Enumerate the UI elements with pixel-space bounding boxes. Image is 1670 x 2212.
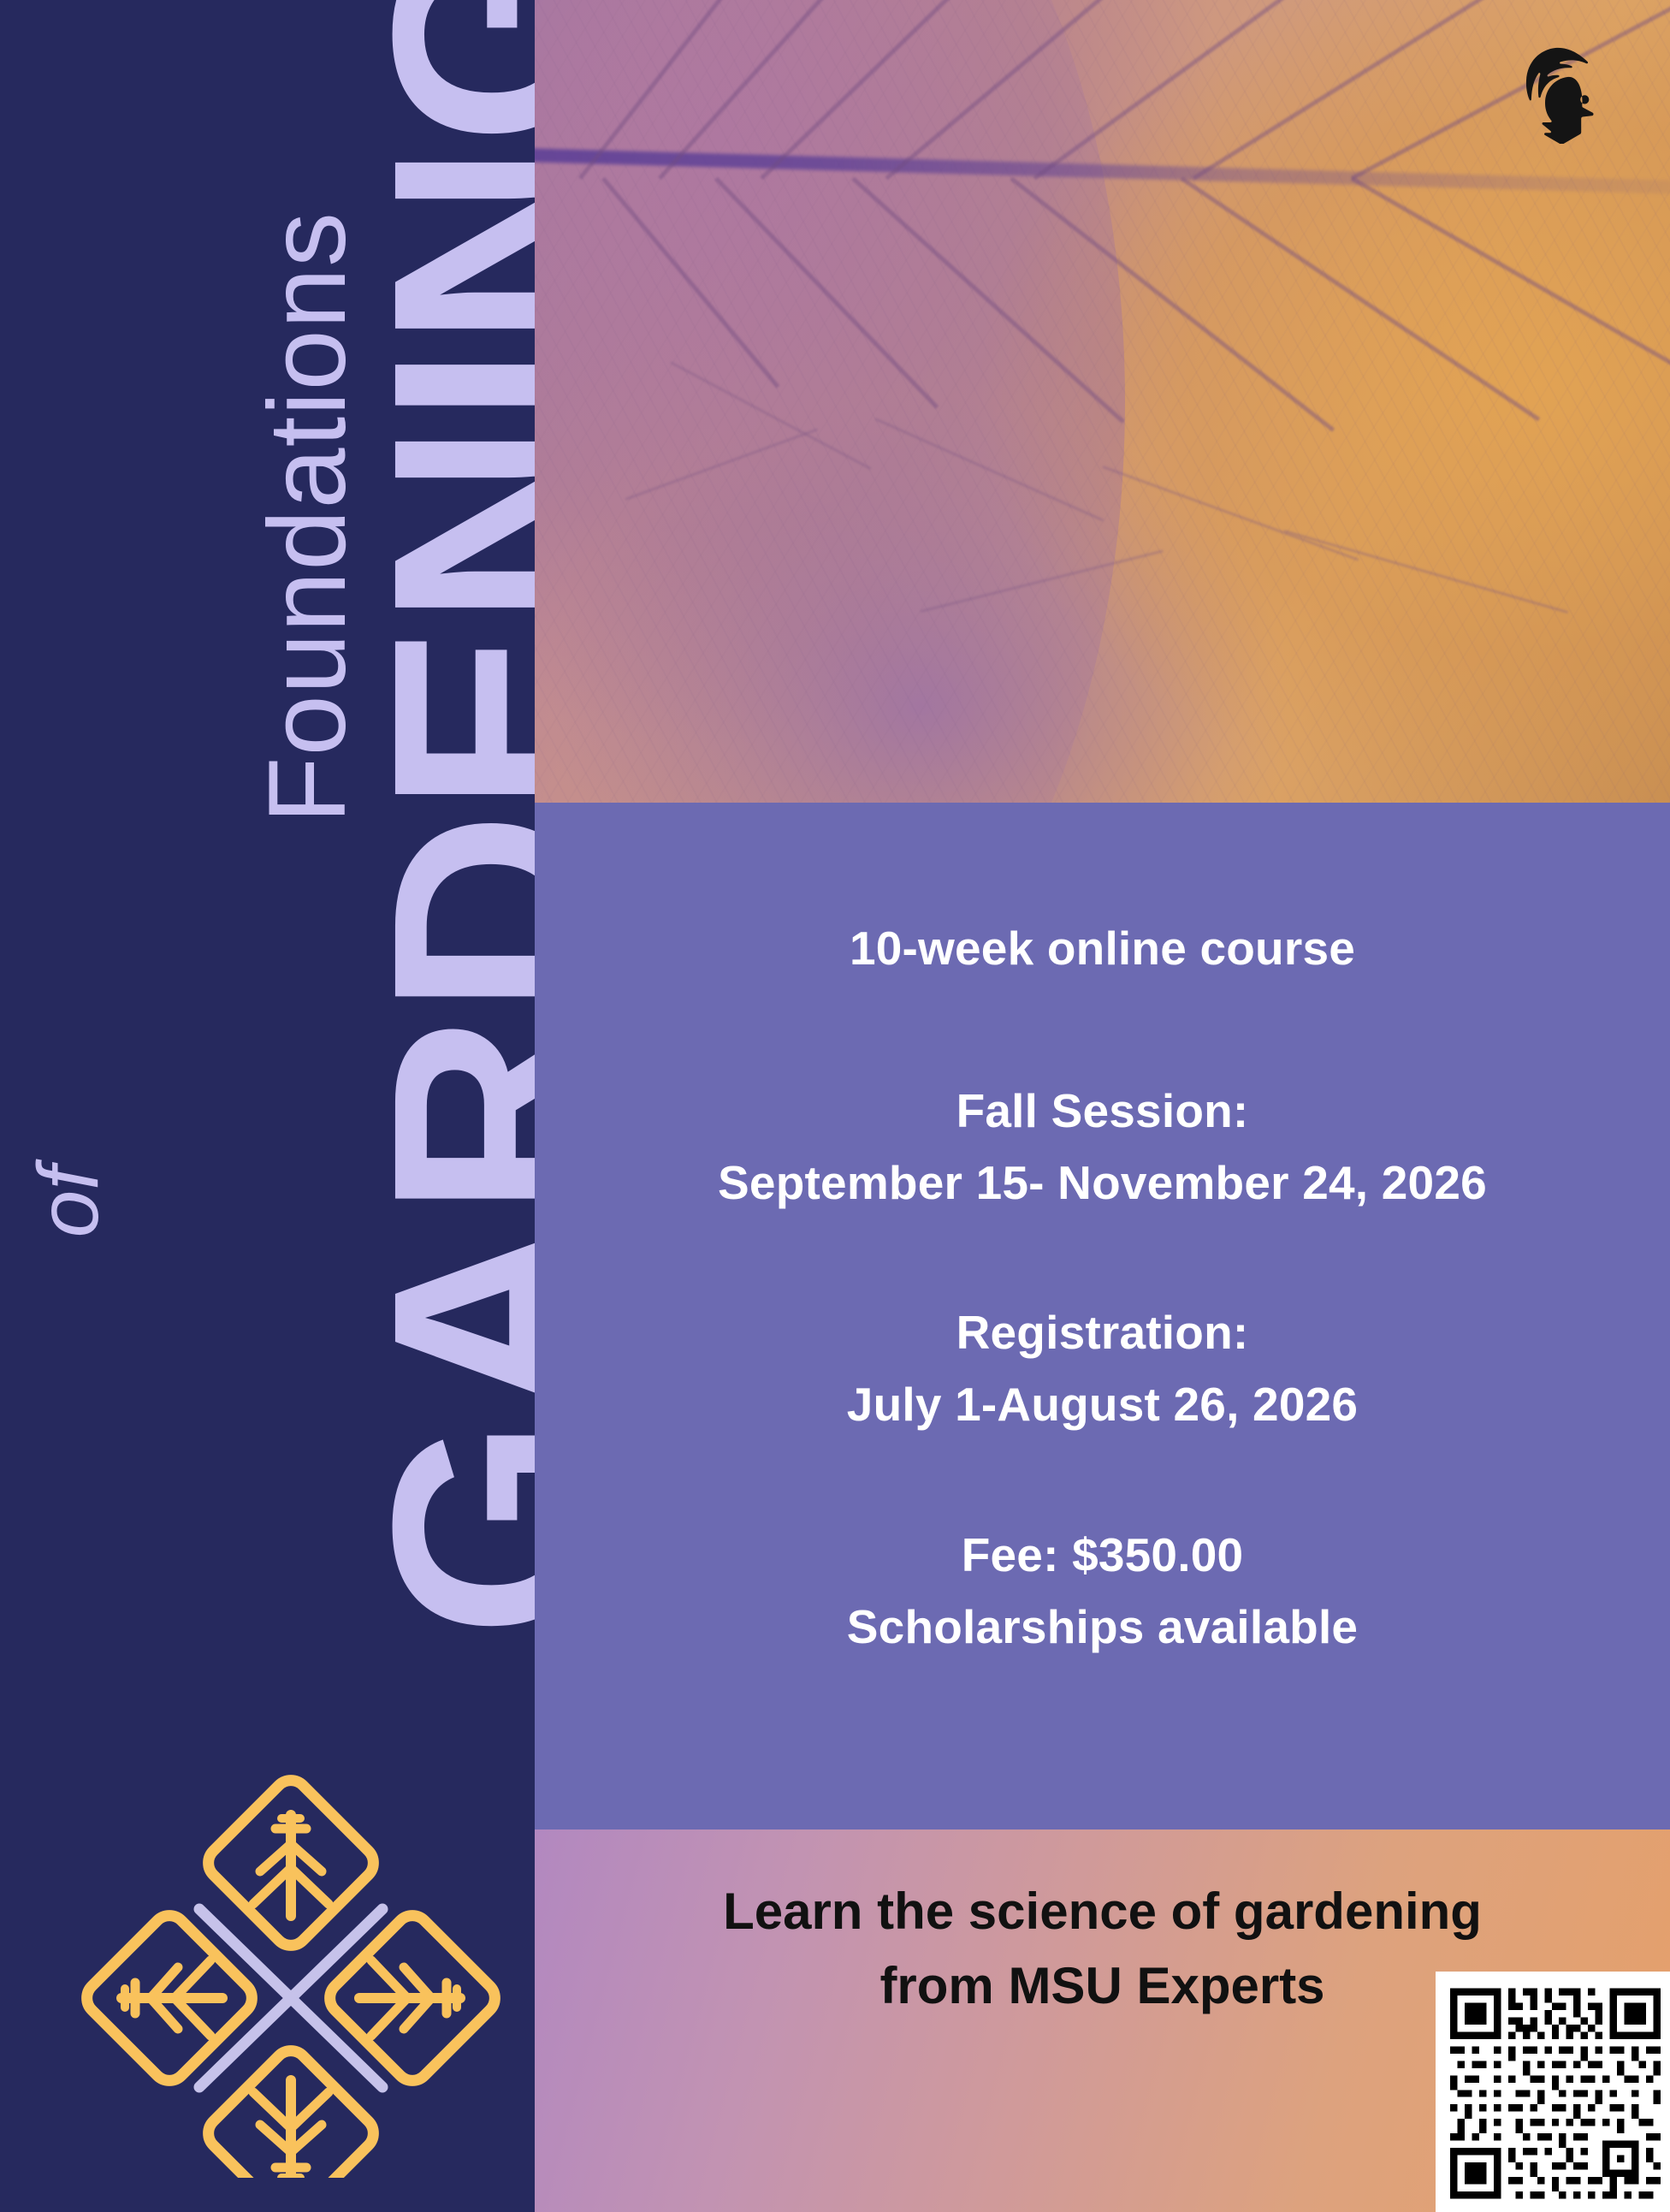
session-dates-text: September 15- November 24, 2026 [718, 1159, 1487, 1208]
poster-title-prefix: Foundations [248, 158, 368, 1870]
title-word-foundations: Foundations [253, 158, 363, 824]
title-word-gardening: GARDENING [362, 0, 535, 1638]
course-details-block: 10-week online course Fall Session: Sept… [535, 803, 1670, 1829]
right-content-column: 10-week online course Fall Session: Sept… [535, 0, 1670, 2212]
poster-canvas: GARDENING Foundations of [0, 0, 1670, 2212]
leaf-macro-photo [535, 0, 1670, 803]
four-leaf-diamond-ornament [73, 1741, 509, 2178]
sidebar-title-panel: GARDENING Foundations of [0, 0, 535, 2212]
footer-band: Learn the science of gardening from MSU … [535, 1829, 1670, 2212]
title-word-of: of [20, 1159, 118, 1237]
fee-text: Fee: $350.00 [962, 1531, 1244, 1580]
registration-dates-text: July 1-August 26, 2026 [847, 1380, 1358, 1430]
tagline-line-1: Learn the science of gardening [723, 1883, 1482, 1940]
registration-label-text: Registration: [956, 1308, 1249, 1358]
msu-spartan-helmet-icon [1519, 43, 1608, 144]
session-label-text: Fall Session: [956, 1087, 1249, 1136]
registration-qr-code[interactable] [1436, 1972, 1670, 2212]
scholarships-text: Scholarships available [847, 1603, 1358, 1652]
course-length-text: 10-week online course [850, 924, 1355, 974]
